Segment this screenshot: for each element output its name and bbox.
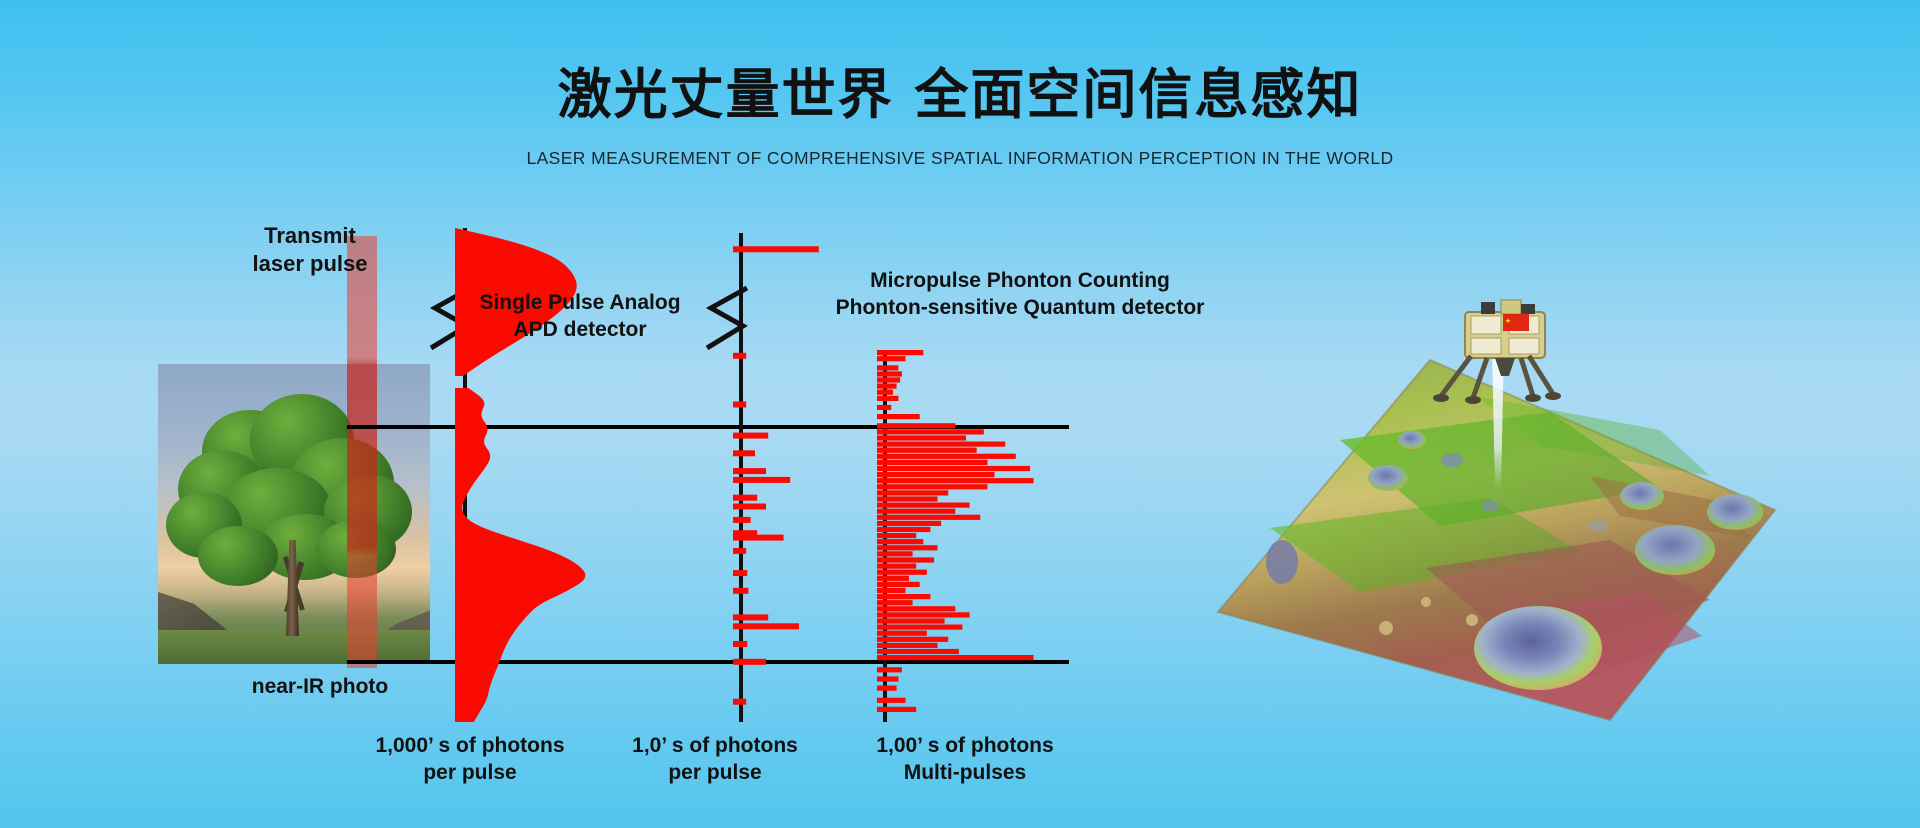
micropulse-bar xyxy=(877,390,893,395)
micropulse-bar xyxy=(877,618,945,623)
apd-label-line2: APD detector xyxy=(430,317,730,344)
page-title: 激光丈量世界 全面空间信息感知 xyxy=(0,50,1920,129)
micropulse-bar xyxy=(877,448,977,453)
micropulse-bar xyxy=(877,686,897,691)
crater xyxy=(1368,465,1408,491)
micropulse-bar xyxy=(877,667,902,672)
crater xyxy=(1441,453,1463,467)
micropulse-bar xyxy=(877,539,923,544)
crater xyxy=(1707,494,1763,530)
crater xyxy=(1266,540,1298,584)
micropulse-bar xyxy=(877,588,906,593)
photon-bar xyxy=(733,548,746,554)
micropulse-bar xyxy=(877,466,1030,471)
micropulse-bar xyxy=(877,414,920,419)
micropulse-bar xyxy=(877,594,930,599)
micropulse-bar xyxy=(877,356,906,361)
photon-bar xyxy=(733,468,766,474)
footer-caption-photon: 1,0’ s of photons per pulse xyxy=(600,732,830,787)
page-subtitle: LASER MEASUREMENT OF COMPREHENSIVE SPATI… xyxy=(0,148,1920,169)
transmit-laser-pulse-label: Transmit laser pulse xyxy=(200,222,420,278)
photon-bar xyxy=(733,353,746,359)
micropulse-bar xyxy=(877,625,962,630)
micropulse-bar xyxy=(877,442,1005,447)
micropulse-label-line1: Micropulse Phonton Counting xyxy=(790,268,1250,295)
micropulse-bar xyxy=(877,698,906,703)
photon-bar xyxy=(733,504,766,510)
micropulse-bar xyxy=(877,533,916,538)
micropulse-bar xyxy=(877,637,948,642)
micropulse-bar xyxy=(877,490,948,495)
micropulse-bar xyxy=(877,371,902,376)
photon-bar xyxy=(733,641,747,647)
micropulse-bar xyxy=(877,655,1034,660)
near-ir-photo-label: near-IR photo xyxy=(195,674,445,701)
micropulse-bar xyxy=(877,435,966,440)
footer-caption-line1: 1,000’ s of photons xyxy=(330,732,610,759)
photon-bar xyxy=(733,659,766,665)
micropulse-bar xyxy=(877,676,898,681)
transmit-label-line1: Transmit xyxy=(200,222,420,250)
micropulse-bar xyxy=(877,564,916,569)
footer-caption-micropulse: 1,00’ s of photons Multi-pulses xyxy=(840,732,1090,787)
micropulse-bar xyxy=(877,429,984,434)
crater xyxy=(1481,500,1499,512)
footer-caption-line2: per pulse xyxy=(600,759,830,786)
crater xyxy=(1474,606,1602,690)
photon-bar xyxy=(733,699,746,705)
micropulse-histogram-bars xyxy=(877,350,1034,712)
micropulse-label-line2: Phonton-sensitive Quantum detector xyxy=(790,295,1250,322)
photon-bar xyxy=(733,535,784,541)
micropulse-bar xyxy=(877,707,916,712)
crater xyxy=(1635,525,1715,575)
crater xyxy=(1588,520,1608,532)
micropulse-bar xyxy=(877,527,930,532)
micropulse-bar xyxy=(877,631,927,636)
photon-bar xyxy=(733,495,757,501)
micropulse-bar xyxy=(877,643,938,648)
china-flag-icon xyxy=(1503,314,1529,331)
footer-caption-analog: 1,000’ s of photons per pulse xyxy=(330,732,610,787)
micropulse-bar xyxy=(877,503,970,508)
tree-canopy xyxy=(198,526,278,586)
micropulse-bar xyxy=(877,582,920,587)
micropulse-bar xyxy=(877,377,900,382)
transmit-label-line2: laser pulse xyxy=(200,250,420,278)
photon-bar xyxy=(733,588,748,594)
footer-caption-line1: 1,00’ s of photons xyxy=(840,732,1090,759)
micropulse-bar xyxy=(877,521,941,526)
micropulse-bar xyxy=(877,515,980,520)
micropulse-bar xyxy=(877,365,898,370)
infographic-stage: 激光丈量世界 全面空间信息感知 LASER MEASUREMENT OF COM… xyxy=(0,0,1920,828)
micropulse-bar xyxy=(877,570,927,575)
photon-bar xyxy=(733,402,746,408)
micropulse-bar xyxy=(877,472,995,477)
micropulse-bar xyxy=(877,576,909,581)
photon-bar xyxy=(733,433,768,439)
micropulse-detector-label: Micropulse Phonton Counting Phonton-sens… xyxy=(790,268,1250,322)
micropulse-bar xyxy=(877,600,913,605)
micropulse-bar xyxy=(877,460,987,465)
micropulse-bar xyxy=(877,405,891,410)
crater xyxy=(1620,482,1664,510)
micropulse-bar xyxy=(877,478,1034,483)
micropulse-bar xyxy=(877,384,897,389)
photon-bar xyxy=(733,477,790,483)
micropulse-bar xyxy=(877,612,970,617)
micropulse-bar xyxy=(877,606,955,611)
micropulse-bar xyxy=(877,551,913,556)
footer-caption-line2: Multi-pulses xyxy=(840,759,1090,786)
footer-caption-line2: per pulse xyxy=(330,759,610,786)
micropulse-bar xyxy=(877,350,923,355)
micropulse-bar xyxy=(877,649,959,654)
micropulse-bar xyxy=(877,557,934,562)
micropulse-bar xyxy=(877,496,938,501)
apd-label-line1: Single Pulse Analog xyxy=(430,290,730,317)
near-ir-tree-photo xyxy=(158,364,430,664)
photon-bar xyxy=(733,570,747,576)
photon-bar xyxy=(733,614,768,620)
lunar-lander-icon xyxy=(1425,292,1585,412)
micropulse-bar xyxy=(877,545,938,550)
micropulse-bar xyxy=(877,454,1016,459)
micropulse-bar xyxy=(877,509,955,514)
photon-bar xyxy=(733,246,819,252)
laser-beam-icon xyxy=(347,236,377,668)
crater xyxy=(1398,431,1426,449)
micropulse-bar xyxy=(877,484,987,489)
photon-bar xyxy=(733,450,755,456)
micropulse-histogram-chart xyxy=(877,350,1067,722)
photon-bar xyxy=(733,623,799,629)
photon-bar xyxy=(733,517,751,523)
micropulse-bar xyxy=(877,423,955,428)
apd-detector-label: Single Pulse Analog APD detector xyxy=(430,290,730,344)
lander-body xyxy=(1433,300,1561,404)
footer-caption-line1: 1,0’ s of photons xyxy=(600,732,830,759)
micropulse-bar xyxy=(877,396,898,401)
